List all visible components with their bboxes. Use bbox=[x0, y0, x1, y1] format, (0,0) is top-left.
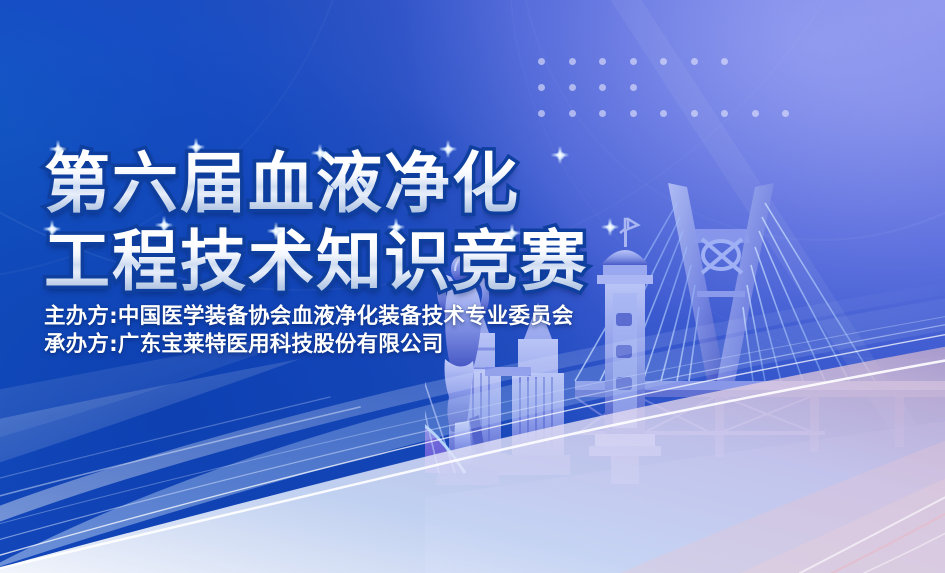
grid-dot bbox=[569, 58, 576, 65]
grid-dot bbox=[538, 84, 545, 91]
title-line-2: 工程技术知识竞赛 工程技术知识竞赛 bbox=[44, 225, 684, 299]
organizer-line: 主办方:中国医学装备协会血液净化装备技术专业委员会 bbox=[44, 303, 574, 331]
event-poster: 第六届血液净化 第六届血液净化 工程技术知识竞赛 工程技术知识竞赛 主办方:中国… bbox=[0, 0, 945, 573]
grid-dot bbox=[630, 58, 637, 65]
grid-dot bbox=[599, 110, 606, 117]
grid-dot bbox=[538, 110, 545, 117]
grid-dot bbox=[660, 58, 667, 65]
title-line-1-fill: 第六届血液净化 bbox=[44, 145, 520, 222]
dot-grid-pattern bbox=[538, 58, 938, 148]
grid-dot bbox=[599, 58, 606, 65]
grid-dot bbox=[752, 110, 759, 117]
poster-title: 第六届血液净化 第六届血液净化 工程技术知识竞赛 工程技术知识竞赛 bbox=[44, 147, 684, 299]
co-organizer-line: 承办方:广东宝莱特医用科技股份有限公司 bbox=[44, 331, 574, 359]
grid-dot bbox=[538, 58, 545, 65]
grid-dot bbox=[691, 110, 698, 117]
poster-subtitle: 主办方:中国医学装备协会血液净化装备技术专业委员会 承办方:广东宝莱特医用科技股… bbox=[44, 303, 574, 359]
dot-grid-row bbox=[538, 84, 637, 91]
dot-grid-row bbox=[538, 110, 789, 117]
dot-grid-row bbox=[538, 58, 728, 65]
grid-dot bbox=[630, 110, 637, 117]
grid-dot bbox=[782, 110, 789, 117]
grid-dot bbox=[599, 84, 606, 91]
grid-dot bbox=[630, 84, 637, 91]
grid-dot bbox=[691, 58, 698, 65]
title-line-2-fill: 工程技术知识竞赛 bbox=[44, 223, 588, 300]
grid-dot bbox=[569, 84, 576, 91]
grid-dot bbox=[569, 110, 576, 117]
grid-dot bbox=[721, 58, 728, 65]
grid-dot bbox=[660, 110, 667, 117]
title-line-1: 第六届血液净化 第六届血液净化 bbox=[44, 147, 684, 221]
grid-dot bbox=[721, 110, 728, 117]
